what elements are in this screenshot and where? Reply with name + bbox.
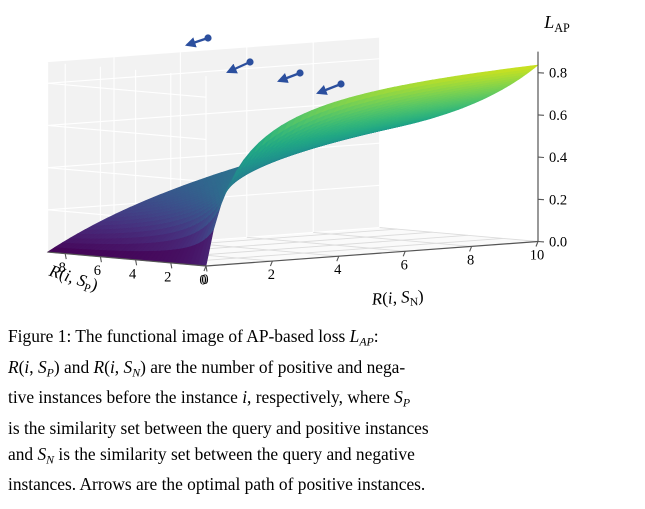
tick-label-z: 0.0 <box>549 235 567 251</box>
instance-dot <box>296 69 303 76</box>
tick-label-x: 8 <box>467 252 474 268</box>
path-arrow <box>187 34 212 45</box>
figure-page: 0.00.20.40.60.8024681002468 R(i, SN)R(i,… <box>0 0 645 509</box>
tick-x <box>337 256 339 261</box>
tick-label-y: 0 <box>199 273 206 289</box>
surface-plot-figure: 0.00.20.40.60.8024681002468 R(i, SN)R(i,… <box>0 0 645 320</box>
axis-label-y: R(i, SP) <box>45 261 100 297</box>
tick-y <box>136 260 137 266</box>
instance-dot <box>204 34 211 41</box>
caption-line: Figure 1: The functional image of AP-bas… <box>8 324 637 355</box>
tick-y <box>171 263 172 269</box>
tick-label-z: 0.6 <box>549 108 567 124</box>
caption-line: and SN is the similarity set between the… <box>8 442 637 473</box>
caption-line: is the similarity set between the query … <box>8 416 637 441</box>
axis-label-x: R(i, SN) <box>370 286 424 311</box>
tick-label-x: 6 <box>401 257 408 273</box>
tick-label-z: 0.8 <box>549 66 567 82</box>
tick-x <box>536 242 538 247</box>
caption-line: instances. Arrows are the optimal path o… <box>8 472 637 497</box>
svg-text:LAP: LAP <box>543 12 570 35</box>
tick-x <box>403 251 405 256</box>
tick-y <box>65 254 66 260</box>
axis-label-z: LAP <box>543 12 570 35</box>
tick-y <box>206 266 207 272</box>
svg-text:R(i, SP): R(i, SP) <box>45 261 100 297</box>
tick-label-y: 4 <box>129 266 137 282</box>
tick-label-z: 0.4 <box>549 150 568 166</box>
svg-text:R(i, SN): R(i, SN) <box>370 286 424 311</box>
instance-dot <box>337 80 344 87</box>
tick-label-x: 4 <box>334 262 342 278</box>
caption-line: tive instances before the instance i, re… <box>8 385 637 416</box>
tick-x <box>470 246 472 251</box>
tick-x <box>270 261 272 266</box>
tick-label-x: 2 <box>268 267 275 283</box>
tick-label-x: 10 <box>530 248 545 264</box>
instance-dot <box>246 58 253 65</box>
surface-plot-svg: 0.00.20.40.60.8024681002468 R(i, SN)R(i,… <box>0 0 645 320</box>
tick-y <box>100 257 101 263</box>
tick-label-z: 0.2 <box>549 192 567 208</box>
caption-line: R(i, SP) and R(i, SN) are the number of … <box>8 355 637 386</box>
tick-label-y: 2 <box>164 269 171 285</box>
figure-caption: Figure 1: The functional image of AP-bas… <box>8 324 637 498</box>
